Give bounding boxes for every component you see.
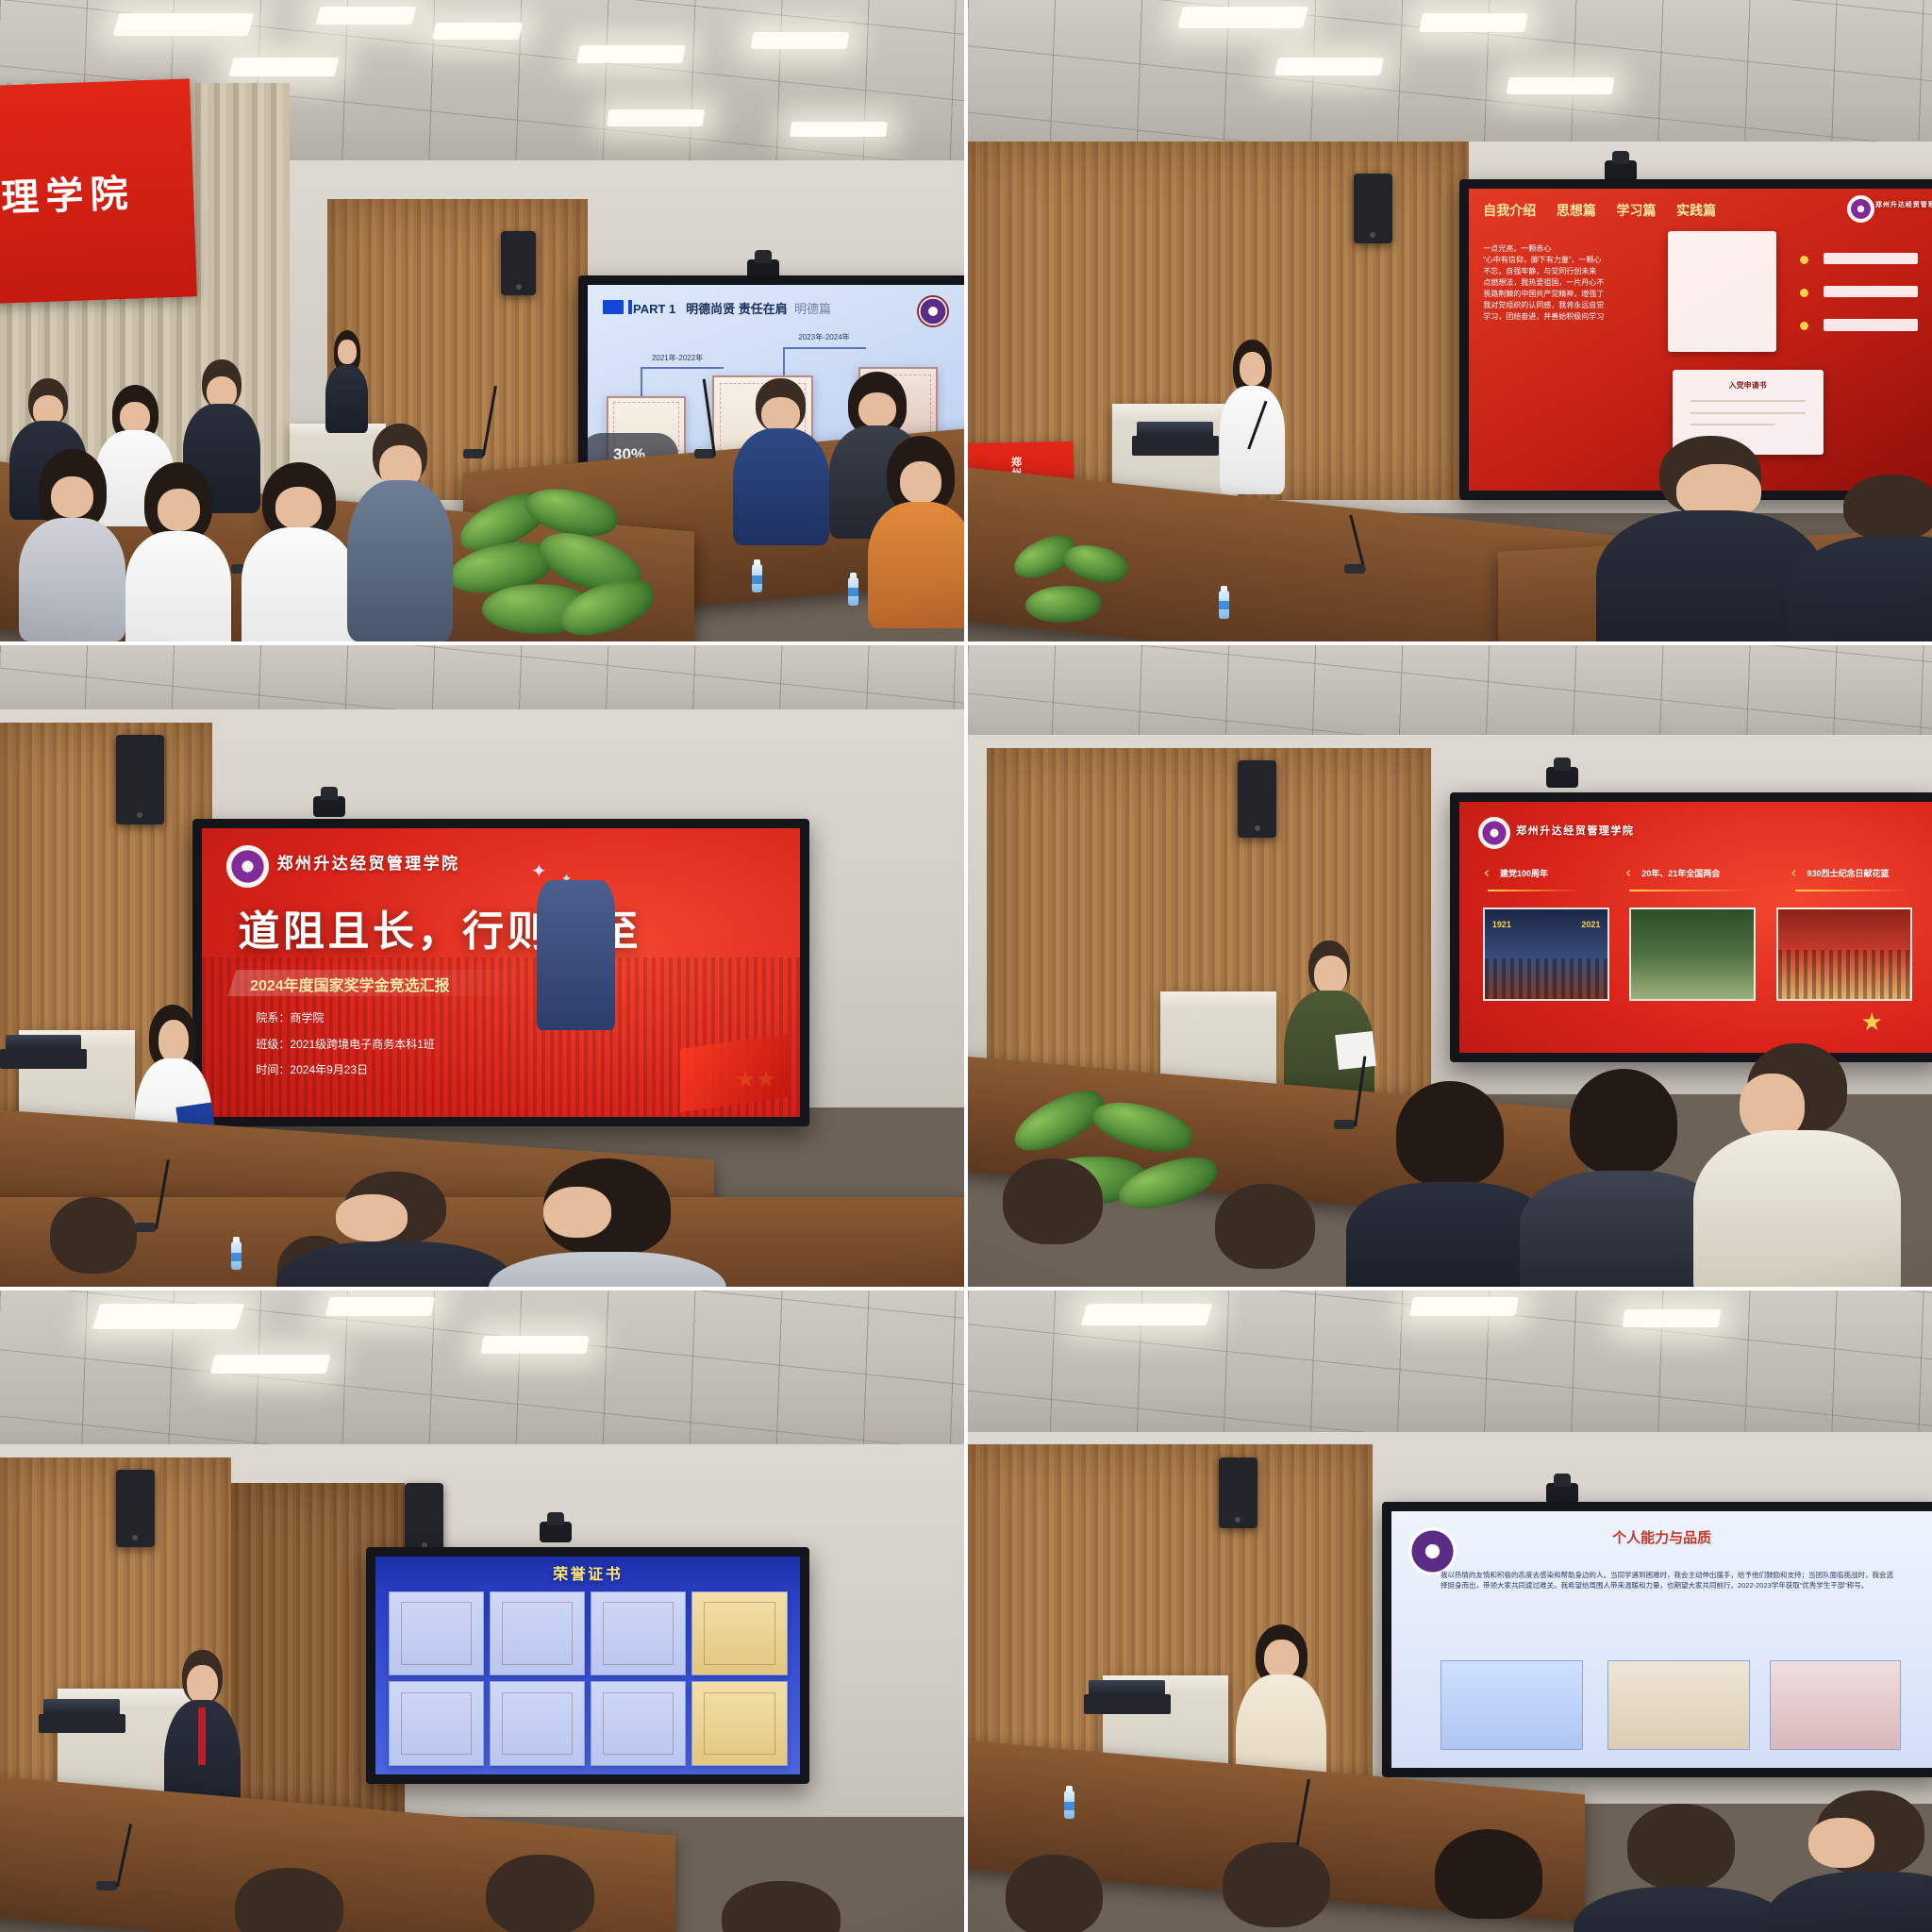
slide-personal-ability: 个人能力与品质 我以热情的友情和积极的态度去感染和帮助身边的人。当同学遇到困难时…	[1391, 1511, 1931, 1768]
ceiling-light	[1507, 77, 1615, 94]
ceiling-light	[480, 1336, 590, 1354]
slide-heading: 个人能力与品质	[1391, 1527, 1931, 1547]
hammer-sickle-icon	[1790, 867, 1803, 879]
timeline-arrow	[641, 367, 642, 395]
panel-1-part1-presentation: 理学院 PART 1 明德尚贤 责任在肩 明德篇 2021年-2022年 202…	[0, 0, 964, 641]
photo-guard	[1629, 908, 1756, 1001]
laptop	[1084, 1694, 1171, 1713]
attendee	[733, 378, 829, 545]
slide-meta-class: 班级：2021级跨境电子商务本科1班	[256, 1036, 434, 1052]
attendee	[1797, 475, 1932, 641]
hammer-sickle-icon	[1624, 867, 1637, 879]
slide-meta-date: 时间：2024年9月23日	[256, 1061, 368, 1077]
ceiling-light	[1420, 13, 1529, 32]
panel-2-four-chapter-slide: 郑州升达经贸管理学院 自我介绍 思想篇 学习篇 实践篇 郑州升达经贸管理学院 一…	[968, 0, 1932, 641]
certificate-cell	[389, 1591, 484, 1675]
attendee	[443, 1855, 636, 1932]
photo-1921-2021: 1921 2021	[1483, 908, 1609, 1001]
attendee	[347, 424, 453, 641]
star-icon: ★	[1861, 1008, 1883, 1037]
water-bottle	[752, 564, 762, 592]
slide-title: 郑州升达经贸管理学院 道阻且长，行则将至 2024年度国家奖学金竞选汇报 院系：…	[202, 828, 800, 1117]
attendee	[1392, 1829, 1585, 1932]
certificate-grid	[389, 1591, 788, 1766]
certificate-thumb-3	[1770, 1660, 1901, 1749]
certificate-cell	[591, 1681, 686, 1765]
microphone	[463, 449, 484, 458]
tab-self-intro[interactable]: 自我介绍	[1483, 201, 1536, 220]
university-emblem-icon	[1847, 195, 1874, 223]
ceiling-light	[607, 109, 706, 126]
slide-party-history: 郑州升达经贸管理学院 建党100周年 20年、21年全国两会 930烈士纪念日献…	[1459, 802, 1932, 1052]
party-item-centenary: 建党100周年	[1483, 867, 1548, 879]
bullet-dot	[1800, 322, 1808, 330]
attendee	[868, 436, 964, 628]
slide-part-label: PART 1 明德尚贤 责任在肩 明德篇	[633, 299, 831, 317]
slide-body: 一点光亮，一颗赤心 “心中有信仰，脚下有力量”，一颗心 不忘，自强牢静，与党同行…	[1483, 243, 1653, 323]
presenter-figure	[537, 880, 614, 1030]
ceiling-light	[209, 1355, 330, 1374]
wall-speaker	[405, 1483, 443, 1554]
attendee	[125, 462, 231, 641]
wall-speaker	[1354, 174, 1392, 244]
ceiling-light	[92, 1304, 245, 1329]
banner-text: 理学院	[0, 163, 135, 223]
conference-camera	[1605, 160, 1637, 181]
wall-speaker	[501, 231, 536, 295]
presentation-screen: 郑州升达经贸管理学院 建党100周年 20年、21年全国两会 930烈士纪念日献…	[1450, 792, 1932, 1061]
panel-4-party-history-slide: 郑州升达经贸管理学院 建党100周年 20年、21年全国两会 930烈士纪念日献…	[968, 645, 1932, 1287]
panel-5-honor-certificates-slide: 荣誉证书	[0, 1291, 964, 1932]
ceiling-light	[1623, 1309, 1722, 1327]
card-title: 入党申请书	[1673, 380, 1824, 391]
certificate-cell	[691, 1681, 787, 1765]
attendee	[1527, 1069, 1720, 1287]
attendee	[1180, 1184, 1354, 1287]
timeline-arrow	[641, 367, 724, 369]
timeline-arrow	[783, 347, 866, 349]
attendee	[241, 462, 358, 641]
wall-speaker	[116, 735, 164, 824]
slide-tabs: 自我介绍 思想篇 学习篇 实践篇	[1483, 201, 1824, 220]
slide-accent-bar	[603, 300, 624, 314]
presenter	[323, 330, 371, 433]
conference-camera	[313, 796, 345, 817]
attendee	[290, 1172, 502, 1287]
water-bottle	[1064, 1790, 1074, 1819]
ceiling-light	[1409, 1297, 1519, 1316]
attendee	[1585, 1804, 1777, 1932]
ceiling-light	[1177, 7, 1308, 28]
ceiling-light	[229, 58, 340, 76]
conference-camera	[540, 1522, 572, 1542]
university-name: 郑州升达经贸管理学院	[1516, 823, 1634, 838]
slide-subtitle: 2024年度国家奖学金竞选汇报	[250, 973, 450, 995]
photo-ceremony	[1776, 908, 1912, 1001]
wall-speaker	[1219, 1457, 1257, 1528]
ceiling-light	[1080, 1304, 1211, 1325]
university-name: 郑州升达经贸管理学院	[277, 850, 460, 874]
ceiling-light	[432, 23, 523, 40]
bullet-dot	[1800, 289, 1808, 297]
panel-6-personal-ability-slide: 个人能力与品质 我以热情的友情和积极的态度去感染和帮助身边的人。当同学遇到困难时…	[968, 1291, 1932, 1932]
party-item-martyrs-day: 930烈士纪念日献花篮	[1790, 867, 1890, 879]
attendee	[968, 1158, 1141, 1287]
laptop	[39, 1714, 125, 1733]
presentation-screen: 荣誉证书	[366, 1547, 809, 1784]
attendee	[19, 449, 125, 641]
ceiling-light	[751, 32, 850, 49]
conference-camera	[1546, 1483, 1578, 1504]
party-item-two-sessions: 20年、21年全国两会	[1624, 867, 1720, 879]
document-paper	[1335, 1031, 1376, 1070]
hammer-sickle-icon	[1483, 867, 1495, 879]
attendee	[968, 1855, 1141, 1932]
dove-icon: ✦	[531, 859, 547, 883]
presentation-screen: 个人能力与品质 我以热情的友情和积极的态度去感染和帮助身边的人。当同学遇到困难时…	[1382, 1502, 1932, 1777]
tab-thought[interactable]: 思想篇	[1557, 201, 1596, 220]
certificate-cell	[389, 1681, 484, 1765]
certificate-cell	[691, 1591, 787, 1675]
conference-camera	[1546, 767, 1578, 788]
microphone	[1344, 564, 1365, 574]
attendee	[675, 1881, 887, 1932]
university-emblem-icon	[917, 295, 949, 327]
university-emblem-icon	[1478, 817, 1510, 849]
university-name: 郑州升达经贸管理学院	[1875, 200, 1932, 209]
water-bottle	[1219, 591, 1229, 619]
presentation-screen: 郑州升达经贸管理学院 道阻且长，行则将至 2024年度国家奖学金竞选汇报 院系：…	[192, 819, 809, 1126]
timeline-date: 2021年-2022年	[652, 353, 703, 363]
potted-plant	[443, 488, 656, 641]
laptop	[0, 1049, 87, 1068]
attendee	[1701, 1043, 1893, 1287]
certificate-thumb-2	[1607, 1660, 1750, 1749]
slide-meta-dept: 院系：商学院	[256, 1009, 324, 1025]
university-emblem-icon	[226, 845, 269, 888]
hall-banner: 理学院	[0, 79, 196, 306]
attendee	[501, 1158, 713, 1287]
slide-paragraph: 我以热情的友情和积极的态度去感染和帮助身边的人。当同学遇到困难时，我会主动伸出援…	[1441, 1571, 1894, 1591]
attendee	[1777, 1790, 1932, 1932]
certificate-cell	[591, 1591, 686, 1675]
timeline-date: 2023年-2024年	[798, 332, 849, 342]
bullet-dot	[1800, 256, 1808, 264]
certificate-cell	[490, 1591, 585, 1675]
attendee	[1605, 436, 1817, 641]
attendee	[1180, 1842, 1373, 1932]
ceiling-light	[325, 1297, 436, 1316]
photo-collage: 理学院 PART 1 明德尚贤 责任在肩 明德篇 2021年-2022年 202…	[0, 0, 1932, 1932]
certificate-thumb-1	[1441, 1660, 1583, 1749]
laptop	[1132, 436, 1219, 455]
wall-speaker	[1238, 760, 1276, 838]
wall-speaker	[116, 1470, 155, 1547]
slide-honors: 荣誉证书	[375, 1557, 800, 1774]
document-image	[1668, 231, 1776, 352]
tab-study[interactable]: 学习篇	[1616, 201, 1656, 220]
certificate-cell	[490, 1681, 585, 1765]
ceiling-light	[316, 7, 417, 25]
slide-heading: 荣誉证书	[375, 1561, 800, 1584]
ceiling-light	[1274, 58, 1384, 75]
water-bottle	[848, 577, 858, 606]
microphone	[96, 1881, 117, 1890]
ceiling-light	[112, 13, 254, 36]
ceiling-light	[577, 45, 687, 63]
attendee	[19, 1197, 174, 1287]
ceiling-light	[790, 122, 888, 137]
tab-practice[interactable]: 实践篇	[1676, 201, 1716, 220]
presenter	[1219, 340, 1287, 493]
water-bottle	[231, 1241, 241, 1270]
potted-plant	[1007, 532, 1141, 641]
microphone	[1334, 1120, 1355, 1129]
panel-3-title-slide-presentation: 郑州升达经贸管理学院 道阻且长，行则将至 2024年度国家奖学金竞选汇报 院系：…	[0, 645, 964, 1287]
attendee	[192, 1868, 385, 1932]
attendee	[1354, 1081, 1546, 1287]
